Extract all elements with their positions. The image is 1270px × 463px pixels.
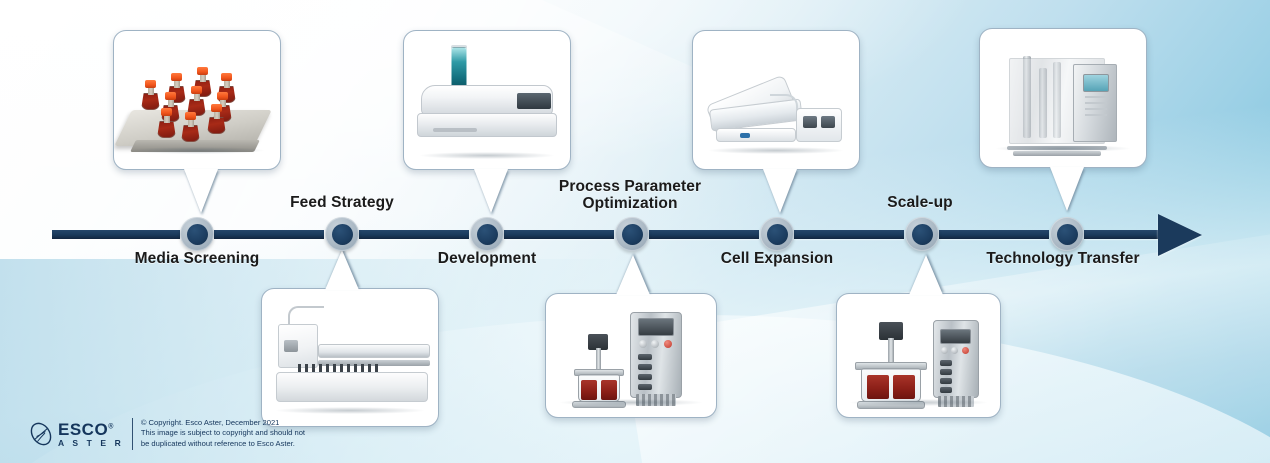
tower-button — [638, 354, 652, 360]
infographic-canvas: Media Screening Feed Strategy Developmen… — [0, 0, 1270, 463]
timeline-label-scale-up: Scale-up — [887, 194, 952, 211]
callout-card-technology-transfer — [979, 28, 1147, 168]
copyright-line: be duplicated without reference to Esco … — [141, 439, 305, 450]
timeline-node-scale-up[interactable] — [905, 217, 939, 251]
tower-knob — [951, 347, 958, 354]
reactor-display — [1083, 74, 1109, 92]
robotic-arm — [288, 306, 324, 326]
timeline-node-development[interactable] — [470, 217, 504, 251]
copyright-line: © Copyright. Esco Aster, December 2021 — [141, 418, 305, 429]
timeline-segment — [794, 230, 904, 239]
instrument-slot — [433, 128, 477, 132]
tower-button — [940, 369, 952, 375]
cabinet-handle — [284, 340, 298, 352]
timeline-segment — [504, 230, 614, 239]
registered-mark: ® — [108, 423, 114, 430]
tower-display — [940, 329, 971, 344]
timeline-node-technology-transfer[interactable] — [1050, 217, 1084, 251]
copyright-notice: © Copyright. Esco Aster, December 2021 T… — [141, 418, 305, 450]
timeline-label-feed-strategy: Feed Strategy — [290, 194, 394, 211]
workstation-deck — [276, 372, 428, 402]
timeline-segment — [52, 230, 180, 239]
timeline-label-cell-expansion: Cell Expansion — [721, 250, 834, 267]
callout-tail — [184, 169, 218, 213]
rocker-base — [716, 128, 796, 142]
timeline-segment — [359, 230, 469, 239]
callout-tail — [763, 169, 797, 213]
culture-liquid — [867, 375, 889, 399]
instrument-display — [517, 93, 551, 109]
callout-card-media-screening — [113, 30, 281, 170]
callout-image-scale-up — [837, 294, 1000, 417]
timeline-arrow-head — [1158, 214, 1202, 256]
tower-button — [940, 360, 952, 366]
culture-liquid — [893, 375, 915, 399]
tower-button — [638, 364, 652, 370]
process-timeline — [52, 227, 1200, 242]
rocker-indicator — [740, 133, 750, 138]
agitator-shaft — [596, 348, 601, 372]
callout-tail — [1050, 167, 1084, 211]
timeline-segment — [649, 230, 759, 239]
callout-card-cell-expansion — [692, 30, 860, 170]
tower-power-button — [664, 340, 672, 348]
tower-power-button — [962, 347, 969, 354]
footer: ESCO® A S T E R © Copyright. Esco Aster,… — [28, 418, 305, 450]
callout-card-scale-up — [836, 293, 1001, 418]
instrument-base — [417, 113, 557, 137]
callout-image-feed-strategy — [262, 289, 438, 426]
tubing — [770, 94, 798, 114]
culture-flask — [207, 104, 226, 134]
tower-button — [940, 378, 952, 384]
timeline-label-development: Development — [438, 250, 536, 267]
timeline-label-process-parameter-optimization: Process Parameter Optimization — [559, 178, 701, 213]
callout-card-process-parameter-optimization — [545, 293, 717, 418]
callout-image-cell-expansion — [693, 31, 859, 169]
timeline-node-cell-expansion[interactable] — [760, 217, 794, 251]
timeline-node-feed-strategy[interactable] — [325, 217, 359, 251]
tower-button — [638, 384, 652, 390]
reactor-button-array — [1085, 96, 1107, 118]
tower-knob — [941, 347, 948, 354]
timeline-node-process-parameter-optimization[interactable] — [615, 217, 649, 251]
callout-image-technology-transfer — [980, 29, 1146, 167]
culture-flask — [141, 80, 160, 110]
culture-liquid — [581, 380, 597, 400]
callout-card-development — [403, 30, 571, 170]
tower-display — [638, 318, 674, 336]
timeline-segment — [214, 230, 324, 239]
logo-brand: ESCO® — [58, 421, 124, 438]
copyright-line: This image is subject to copyright and s… — [141, 428, 305, 439]
footer-divider — [132, 418, 133, 450]
callout-tail — [909, 255, 943, 295]
timeline-node-media-screening[interactable] — [180, 217, 214, 251]
sample-vial — [451, 47, 467, 89]
tower-button — [638, 374, 652, 380]
callout-image-development — [404, 31, 570, 169]
timeline-segment — [939, 230, 1049, 239]
logo-wordmark: ESCO® A S T E R — [58, 421, 124, 448]
tower-knob — [651, 340, 659, 348]
callout-tail — [474, 169, 508, 213]
culture-liquid — [601, 380, 617, 400]
tower-knob — [639, 340, 647, 348]
esco-aster-logo: ESCO® A S T E R — [28, 421, 124, 448]
timeline-label-media-screening: Media Screening — [135, 250, 260, 267]
esco-leaf-icon — [28, 421, 54, 447]
culture-flask — [181, 112, 200, 142]
gantry-beam — [318, 344, 430, 358]
rocker-control-unit — [796, 108, 842, 142]
timeline-label-technology-transfer: Technology Transfer — [986, 250, 1139, 267]
culture-flask — [157, 108, 176, 138]
tower-button — [940, 387, 952, 393]
callout-image-process-parameter-optimization — [546, 294, 716, 417]
callout-image-media-screening — [114, 31, 280, 169]
logo-sub-brand: A S T E R — [58, 439, 124, 448]
callout-tail — [616, 255, 650, 295]
callout-tail — [325, 250, 359, 290]
callout-card-feed-strategy — [261, 288, 439, 427]
